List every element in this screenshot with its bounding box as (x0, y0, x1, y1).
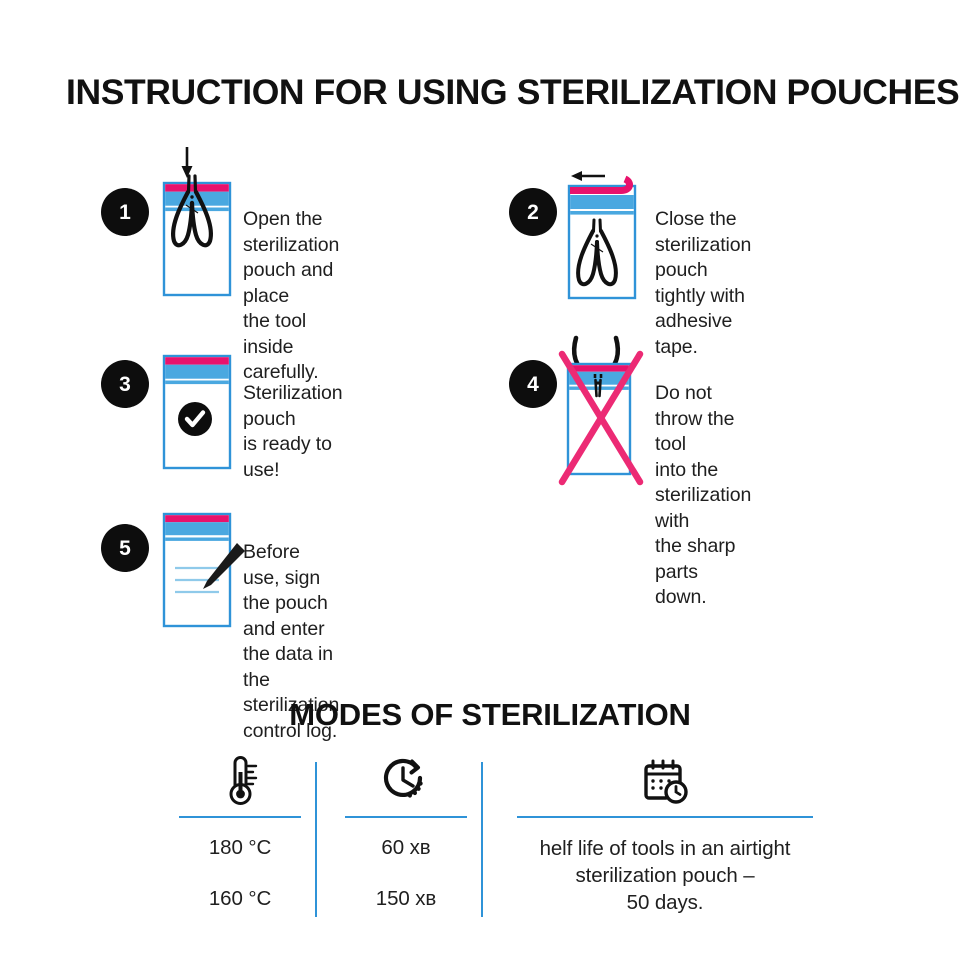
divider-2 (481, 762, 483, 917)
shelf-life-note: helf life of tools in an airtight steril… (497, 835, 833, 916)
temperature-value-2: 160 °C (165, 886, 315, 912)
modes-section-title: MODES OF STERILIZATION (0, 697, 980, 733)
mode-column-shelf-life: helf life of tools in an airtight steril… (497, 752, 833, 916)
left-arrow-icon (571, 171, 605, 181)
time-value-1: 60 хв (331, 835, 481, 861)
check-circle-icon (178, 402, 212, 436)
time-value-2: 150 хв (331, 886, 481, 912)
step-4-illustration (550, 330, 660, 490)
step-5-badge: 5 (101, 524, 149, 572)
step-3-badge: 3 (101, 360, 149, 408)
step-1-text: Open the sterilization pouch and place t… (243, 207, 339, 386)
step-3-illustration (158, 352, 238, 477)
mode-column-temperature: 180 °C 160 °C (165, 752, 315, 911)
step-2-illustration (563, 168, 643, 308)
step-3-text: Sterilization pouch is ready to use! (243, 381, 343, 483)
page-title: INSTRUCTION FOR USING STERILIZATION POUC… (66, 72, 959, 113)
calendar-clock-icon (497, 752, 833, 810)
adhesive-tape-flap (570, 179, 630, 191)
step-1-illustration (158, 145, 238, 305)
clock-icon (331, 752, 481, 810)
step-5-illustration (158, 510, 253, 635)
step-1-badge: 1 (101, 188, 149, 236)
step-4-text: Do not throw the tool into the steriliza… (655, 381, 751, 611)
rule-time (345, 816, 467, 818)
down-arrow-icon (182, 147, 193, 178)
step-2-text: Close the sterilization pouch tightly wi… (655, 207, 751, 360)
divider-1 (315, 762, 317, 917)
rule-temperature (179, 816, 301, 818)
step-2-badge: 2 (509, 188, 557, 236)
temperature-value-1: 180 °C (165, 835, 315, 861)
rule-shelf-life (517, 816, 813, 818)
mode-column-time: 60 хв 150 хв (331, 752, 481, 911)
infographic-page: INSTRUCTION FOR USING STERILIZATION POUC… (0, 0, 980, 980)
thermometer-icon (165, 752, 315, 810)
modes-table: 180 °C 160 °C 60 хв (0, 752, 980, 922)
